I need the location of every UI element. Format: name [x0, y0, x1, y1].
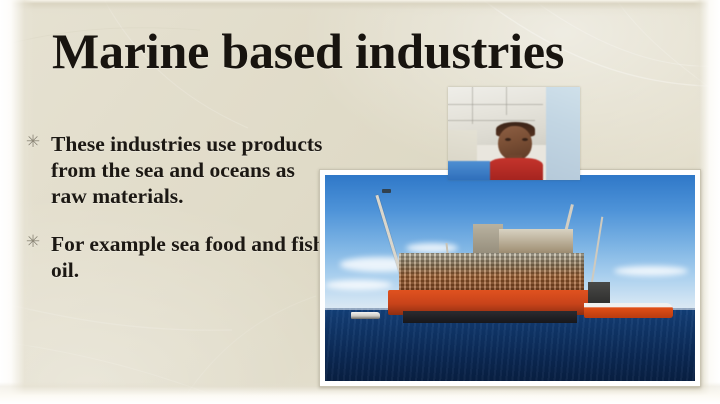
- supply-ship: [584, 303, 673, 318]
- asterisk-bullet-icon: ✳: [24, 231, 42, 253]
- asterisk-bullet-icon: ✳: [24, 131, 42, 153]
- webcam-wall-right: [546, 87, 580, 180]
- supply-ship-mast: [588, 282, 610, 305]
- ceiling-tile-line: [448, 104, 543, 105]
- ceiling-tile-line: [448, 120, 535, 121]
- ceiling-tile-line: [472, 87, 473, 124]
- bullet-item: ✳ For example sea food and fish oil.: [18, 231, 330, 283]
- offshore-oil-rig-photo-frame: [319, 169, 701, 387]
- webcam-blue-band: [448, 161, 490, 180]
- offshore-oil-rig-photo: [325, 175, 695, 381]
- presentation-slide: Marine based industries ✳ These industri…: [0, 0, 720, 404]
- ceiling-tile-line: [506, 87, 507, 115]
- bullet-item: ✳ These industries use products from the…: [18, 131, 330, 209]
- rig-crane-head: [382, 189, 391, 193]
- bullet-text: For example sea food and fish oil.: [51, 231, 330, 283]
- presenter-torso: [488, 158, 543, 180]
- rig-deck: [399, 253, 584, 292]
- rig-legs: [403, 311, 577, 323]
- bullet-list: ✳ These industries use products from the…: [18, 131, 330, 305]
- small-boat: [351, 312, 381, 319]
- slide-title: Marine based industries: [52, 22, 682, 80]
- webcam-overlay[interactable]: [448, 87, 580, 180]
- bullet-text: These industries use products from the s…: [51, 131, 330, 209]
- photo-cloud: [614, 266, 688, 276]
